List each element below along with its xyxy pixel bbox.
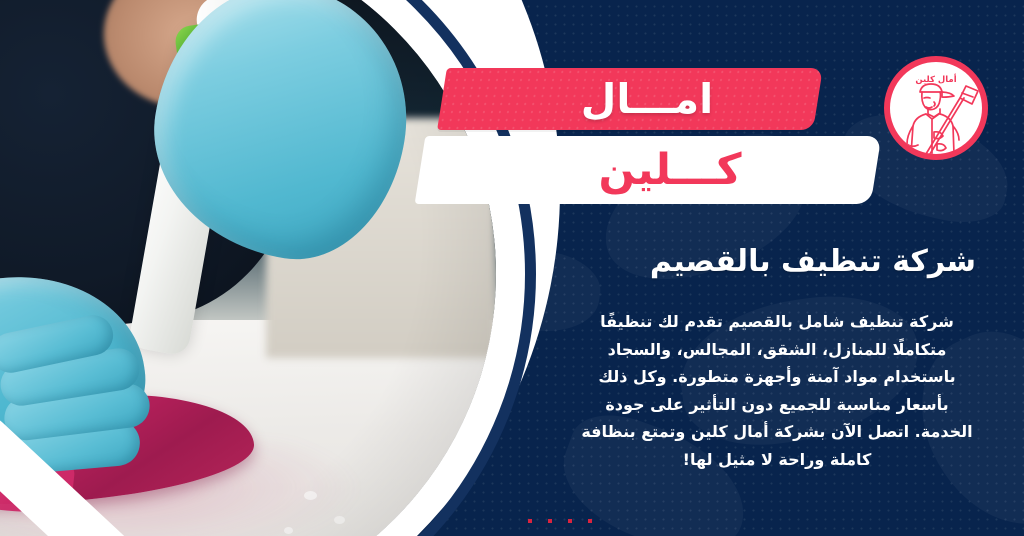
description-text: شركة تنظيف شامل بالقصيم تقدم لك تنظيفًا … [578, 308, 976, 473]
decorative-dot [528, 519, 532, 523]
decorative-dot [548, 519, 552, 523]
cleaning-photo [0, 0, 496, 536]
logo-wordmark: أمال كلين [890, 75, 982, 85]
decorative-dot [588, 519, 592, 523]
photo-vignette [0, 0, 496, 536]
brand-name-line1: امـــال [442, 68, 818, 130]
decorative-dots [528, 519, 592, 523]
page-title: شركة تنظيف بالقصيم [456, 243, 976, 281]
photo-frame [0, 0, 510, 536]
decorative-dot [568, 519, 572, 523]
brand-name-line2: كـــلين [420, 136, 876, 204]
promo-banner: امـــال كـــلين [0, 0, 1024, 536]
company-logo[interactable]: أمال كلين [884, 56, 988, 160]
